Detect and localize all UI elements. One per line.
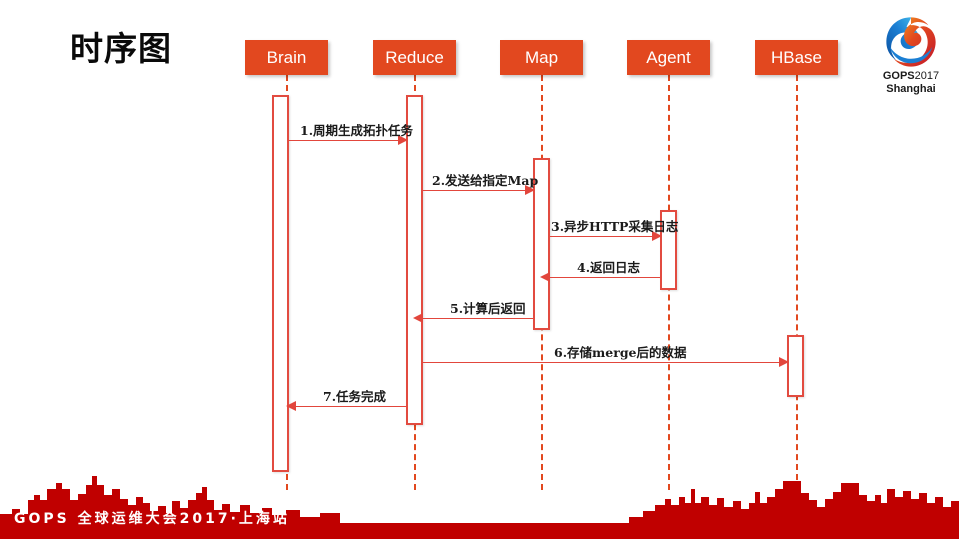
message-arrowhead-5 (413, 313, 423, 323)
gops-logo-icon (883, 14, 939, 70)
actor-box-map[interactable]: Map (500, 40, 583, 75)
actor-label-brain: Brain (267, 48, 307, 67)
actor-box-hbase[interactable]: HBase (755, 40, 838, 75)
message-label-7: 7.任务完成 (323, 386, 386, 405)
message-arrowhead-7 (286, 401, 296, 411)
message-label-5: 5.计算后返回 (450, 298, 526, 317)
page-title: 时序图 (70, 22, 172, 70)
gops-logo-line2: Shanghai (866, 83, 956, 96)
activation-hbase (787, 335, 804, 397)
actor-label-reduce: Reduce (385, 48, 444, 67)
message-label-2: 2.发送给指定Map (432, 170, 538, 189)
message-label-4: 4.返回日志 (577, 257, 640, 276)
actor-label-map: Map (525, 48, 558, 67)
message-arrowhead-4 (540, 272, 550, 282)
activation-reduce (406, 95, 423, 425)
message-label-6: 6.存储merge后的数据 (554, 342, 687, 361)
skyline-right-silhouette (629, 467, 959, 525)
gops-logo: GOPS2017 Shanghai (866, 14, 956, 98)
message-label-1: 1.周期生成拓扑任务 (300, 120, 413, 139)
message-line-7 (296, 406, 406, 407)
message-line-1 (289, 140, 406, 141)
message-line-4 (550, 277, 660, 278)
gops-logo-brand: GOPS (883, 70, 915, 82)
footer: GOPS 全球运维大会2017·上海站 (0, 469, 959, 539)
message-label-3: 3.异步HTTP采集日志 (551, 216, 678, 235)
message-line-3 (550, 236, 660, 237)
message-line-5 (423, 318, 533, 319)
message-line-2 (423, 190, 533, 191)
gops-logo-year: 2017 (915, 70, 939, 82)
actor-box-brain[interactable]: Brain (245, 40, 328, 75)
actor-label-hbase: HBase (771, 48, 822, 67)
message-arrowhead-6 (779, 357, 789, 367)
slide-canvas: 时序图 GOPS2017 Shanghai (0, 0, 959, 539)
footer-text: GOPS 全球运维大会2017·上海站 (14, 508, 290, 528)
lifeline-hbase (796, 75, 798, 490)
actor-box-agent[interactable]: Agent (627, 40, 710, 75)
gops-logo-line1: GOPS2017 (866, 70, 956, 83)
actor-label-agent: Agent (646, 48, 690, 67)
actor-box-reduce[interactable]: Reduce (373, 40, 456, 75)
activation-brain (272, 95, 289, 472)
message-line-6 (423, 362, 787, 363)
